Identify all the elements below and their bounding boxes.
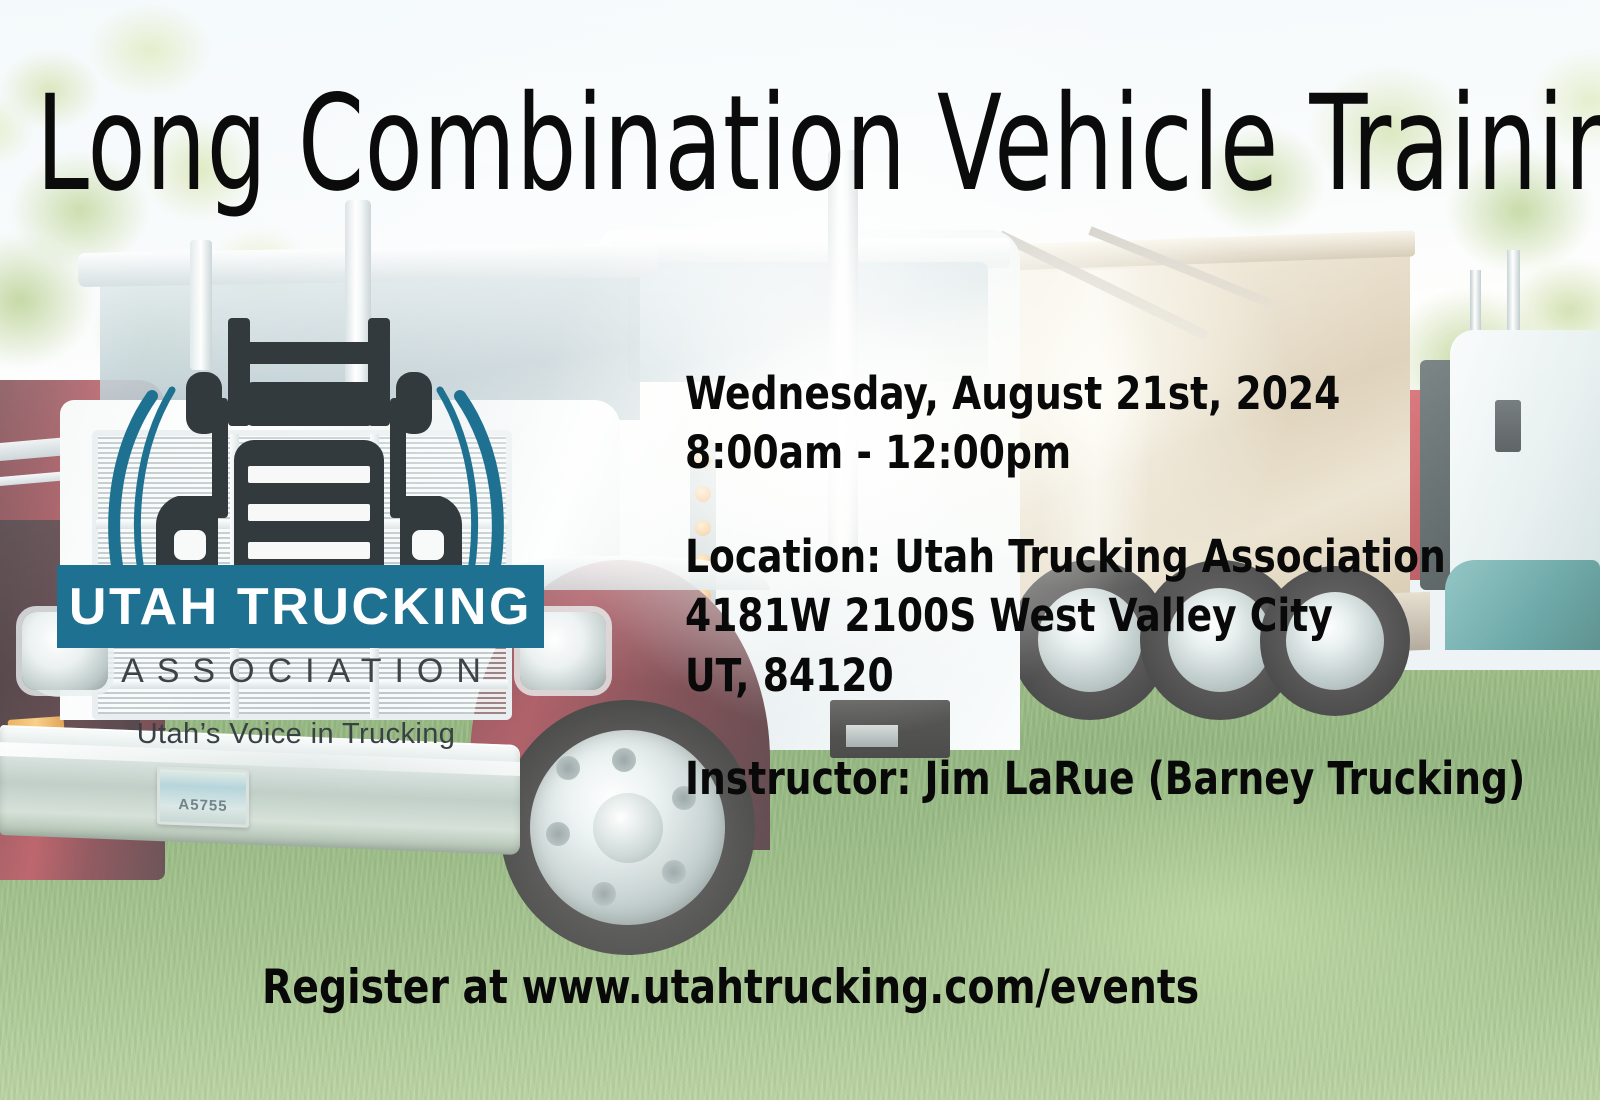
- register-call-to-action[interactable]: Register at www.utahtrucking.com/events: [262, 962, 1199, 1014]
- event-location-line-2: 4181W 2100S West Valley City: [685, 586, 1503, 645]
- event-instructor: Instructor: Jim LaRue (Barney Trucking): [685, 749, 1503, 808]
- logo-banner-text: UTAH TRUCKING: [69, 581, 532, 633]
- event-flyer: A5755 Long Combination Vehicle Training …: [0, 0, 1600, 1100]
- logo-association-text: ASSOCIATION: [56, 652, 546, 691]
- grille-slots: [248, 466, 370, 559]
- logo-arc-left-outer: [114, 396, 152, 592]
- event-time: 8:00am - 12:00pm: [685, 423, 1503, 482]
- details-spacer-2: [685, 705, 1503, 749]
- flyer-title: Long Combination Vehicle Training: [36, 78, 1260, 210]
- flyer-content: Long Combination Vehicle Training Wednes…: [0, 0, 1600, 1100]
- details-spacer-1: [685, 483, 1503, 527]
- event-location-line-1: Location: Utah Trucking Association: [685, 527, 1503, 586]
- logo-arc-right-outer: [460, 396, 498, 592]
- logo-tagline: Utah’s Voice in Trucking: [56, 718, 536, 751]
- utah-trucking-association-logo: UTAH TRUCKING ASSOCIATION Utah’s Voice i…: [56, 300, 556, 765]
- logo-banner: UTAH TRUCKING: [57, 565, 544, 648]
- event-location-line-3: UT, 84120: [685, 646, 1503, 705]
- event-date: Wednesday, August 21st, 2024: [685, 364, 1503, 423]
- event-details-block: Wednesday, August 21st, 2024 8:00am - 12…: [685, 364, 1503, 808]
